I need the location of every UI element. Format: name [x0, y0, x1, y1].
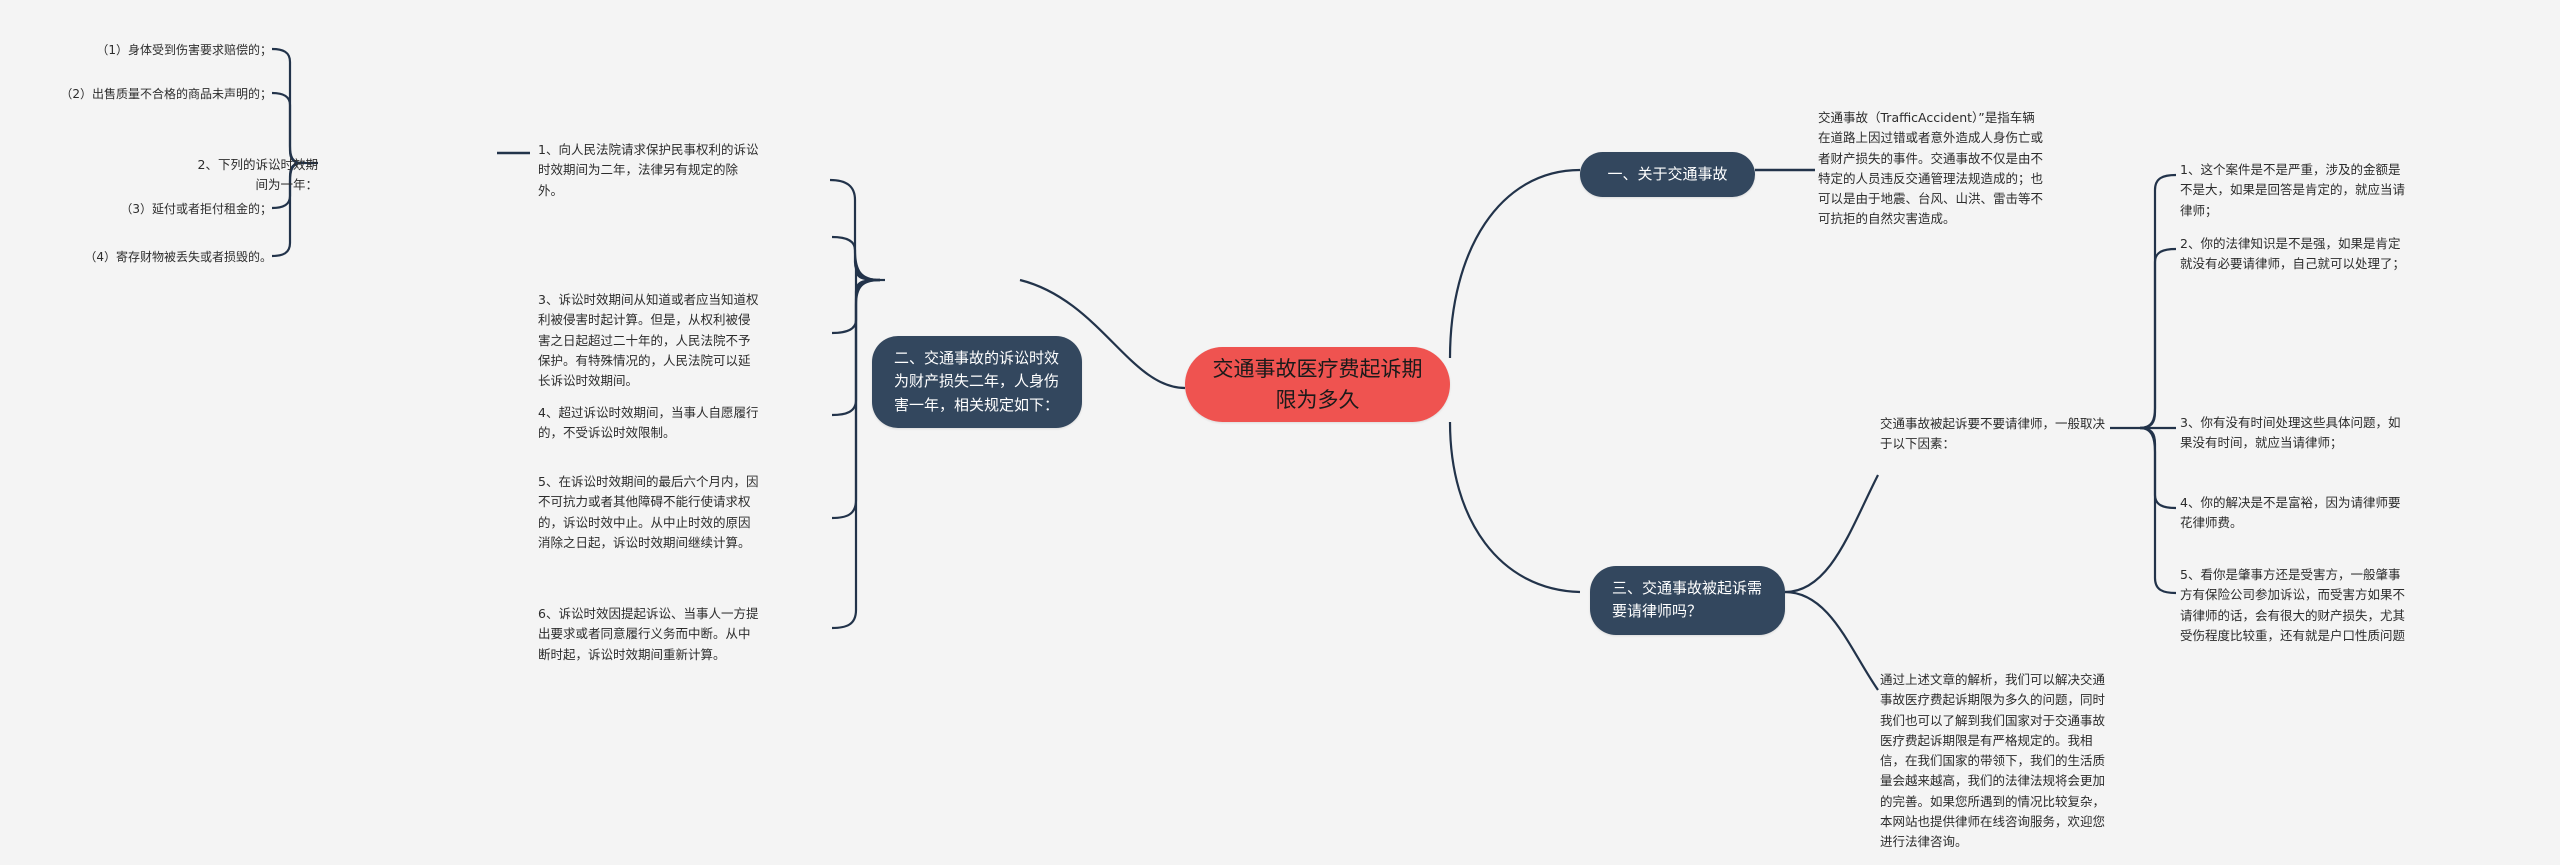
mindmap-edges — [0, 0, 2560, 865]
item-3-2-text: 2、你的法律知识是不是强，如果是肯定就没有必要请律师，自己就可以处理了； — [2180, 234, 2412, 275]
item-2-6-label: 6、诉讼时效因提起诉讼、当事人一方提出要求或者同意履行义务而中断。从中断时起，诉… — [538, 606, 758, 662]
item-3-5-text: 5、看你是肇事方还是受害方，一般肇事方有保险公司参加诉讼，而受害方如果不请律师的… — [2180, 565, 2412, 646]
item-2-2-4-text: （4）寄存财物被丢失或者损毁的。 — [20, 248, 272, 267]
item-3-3-text: 3、你有没有时间处理这些具体问题，如果没有时间，就应当请律师； — [2180, 413, 2412, 454]
item-2-2-1-label: （1）身体受到伤害要求赔偿的； — [96, 43, 272, 57]
item-3-1-text: 1、这个案件是不是严重，涉及的金额是不是大，如果是回答是肯定的，就应当请律师； — [2180, 160, 2412, 221]
branch-node-3[interactable]: 三、交通事故被起诉需要请律师吗？ — [1590, 566, 1785, 635]
item-2-1-label: 1、向人民法院请求保护民事权利的诉讼时效期间为二年，法律另有规定的除外。 — [538, 142, 758, 198]
item-2-1-text: 1、向人民法院请求保护民事权利的诉讼时效期间为二年，法律另有规定的除外。 — [538, 140, 760, 201]
item-3-2-label: 2、你的法律知识是不是强，如果是肯定就没有必要请律师，自己就可以处理了； — [2180, 236, 2405, 271]
root-node-label: 交通事故医疗费起诉期限为多久 — [1211, 354, 1424, 415]
branch-node-1[interactable]: 一、关于交通事故 — [1580, 152, 1755, 197]
item-3-5-label: 5、看你是肇事方还是受害方，一般肇事方有保险公司参加诉讼，而受害方如果不请律师的… — [2180, 567, 2405, 643]
item-2-5-label: 5、在诉讼时效期间的最后六个月内，因不可抗力或者其他障碍不能行使请求权的，诉讼时… — [538, 474, 758, 550]
branch-node-2[interactable]: 二、交通事故的诉讼时效为财产损失二年，人身伤害一年，相关规定如下： — [872, 336, 1082, 428]
item-3-4-label: 4、你的解决是不是富裕，因为请律师要花律师费。 — [2180, 495, 2400, 530]
item-3-intro-label: 交通事故被起诉要不要请律师，一般取决于以下因素： — [1880, 416, 2105, 451]
item-2-2-1-text: （1）身体受到伤害要求赔偿的； — [40, 41, 272, 60]
item-2-4-text: 4、超过诉讼时效期间，当事人自愿履行的，不受诉讼时效限制。 — [538, 403, 760, 444]
item-3-1-label: 1、这个案件是不是严重，涉及的金额是不是大，如果是回答是肯定的，就应当请律师； — [2180, 162, 2405, 218]
item-3-conclusion-text: 通过上述文章的解析，我们可以解决交通事故医疗费起诉期限为多久的问题，同时我们也可… — [1880, 670, 2108, 852]
branch-node-3-label: 三、交通事故被起诉需要请律师吗？ — [1612, 579, 1762, 620]
item-3-intro-text: 交通事故被起诉要不要请律师，一般取决于以下因素： — [1880, 414, 2108, 455]
item-2-6-text: 6、诉讼时效因提起诉讼、当事人一方提出要求或者同意履行义务而中断。从中断时起，诉… — [538, 604, 760, 665]
item-2-3-text: 3、诉讼时效期间从知道或者应当知道权利被侵害时起计算。但是，从权利被侵害之日起超… — [538, 290, 760, 391]
item-3-3-label: 3、你有没有时间处理这些具体问题，如果没有时间，就应当请律师； — [2180, 415, 2400, 450]
item-2-2-text: 2、下列的诉讼时效期间为一年： — [196, 155, 318, 196]
item-3-conclusion-label: 通过上述文章的解析，我们可以解决交通事故医疗费起诉期限为多久的问题，同时我们也可… — [1880, 672, 2105, 849]
mindmap-canvas: 交通事故医疗费起诉期限为多久 一、关于交通事故 交通事故（TrafficAcci… — [0, 0, 2560, 865]
branch-1-detail-label: 交通事故（TrafficAccident）”是指车辆在道路上因过错或者意外造成人… — [1818, 110, 2043, 226]
root-node[interactable]: 交通事故医疗费起诉期限为多久 — [1185, 347, 1450, 422]
item-2-5-text: 5、在诉讼时效期间的最后六个月内，因不可抗力或者其他障碍不能行使请求权的，诉讼时… — [538, 472, 760, 553]
item-3-4-text: 4、你的解决是不是富裕，因为请律师要花律师费。 — [2180, 493, 2412, 534]
item-2-2-label: 2、下列的诉讼时效期间为一年： — [198, 157, 318, 192]
item-2-2-2-label: （2）出售质量不合格的商品未声明的； — [60, 87, 272, 101]
branch-node-2-label: 二、交通事故的诉讼时效为财产损失二年，人身伤害一年，相关规定如下： — [894, 349, 1059, 414]
item-2-2-4-label: （4）寄存财物被丢失或者损毁的。 — [84, 250, 272, 264]
item-2-3-label: 3、诉讼时效期间从知道或者应当知道权利被侵害时起计算。但是，从权利被侵害之日起超… — [538, 292, 758, 388]
item-2-4-label: 4、超过诉讼时效期间，当事人自愿履行的，不受诉讼时效限制。 — [538, 405, 758, 440]
item-2-2-3-label: （3）延付或者拒付租金的； — [120, 202, 272, 216]
item-2-2-3-text: （3）延付或者拒付租金的； — [40, 200, 272, 219]
item-2-2-2-text: （2）出售质量不合格的商品未声明的； — [20, 85, 272, 104]
branch-node-1-label: 一、关于交通事故 — [1607, 165, 1727, 183]
branch-1-detail-text: 交通事故（TrafficAccident）”是指车辆在道路上因过错或者意外造成人… — [1818, 108, 2043, 230]
